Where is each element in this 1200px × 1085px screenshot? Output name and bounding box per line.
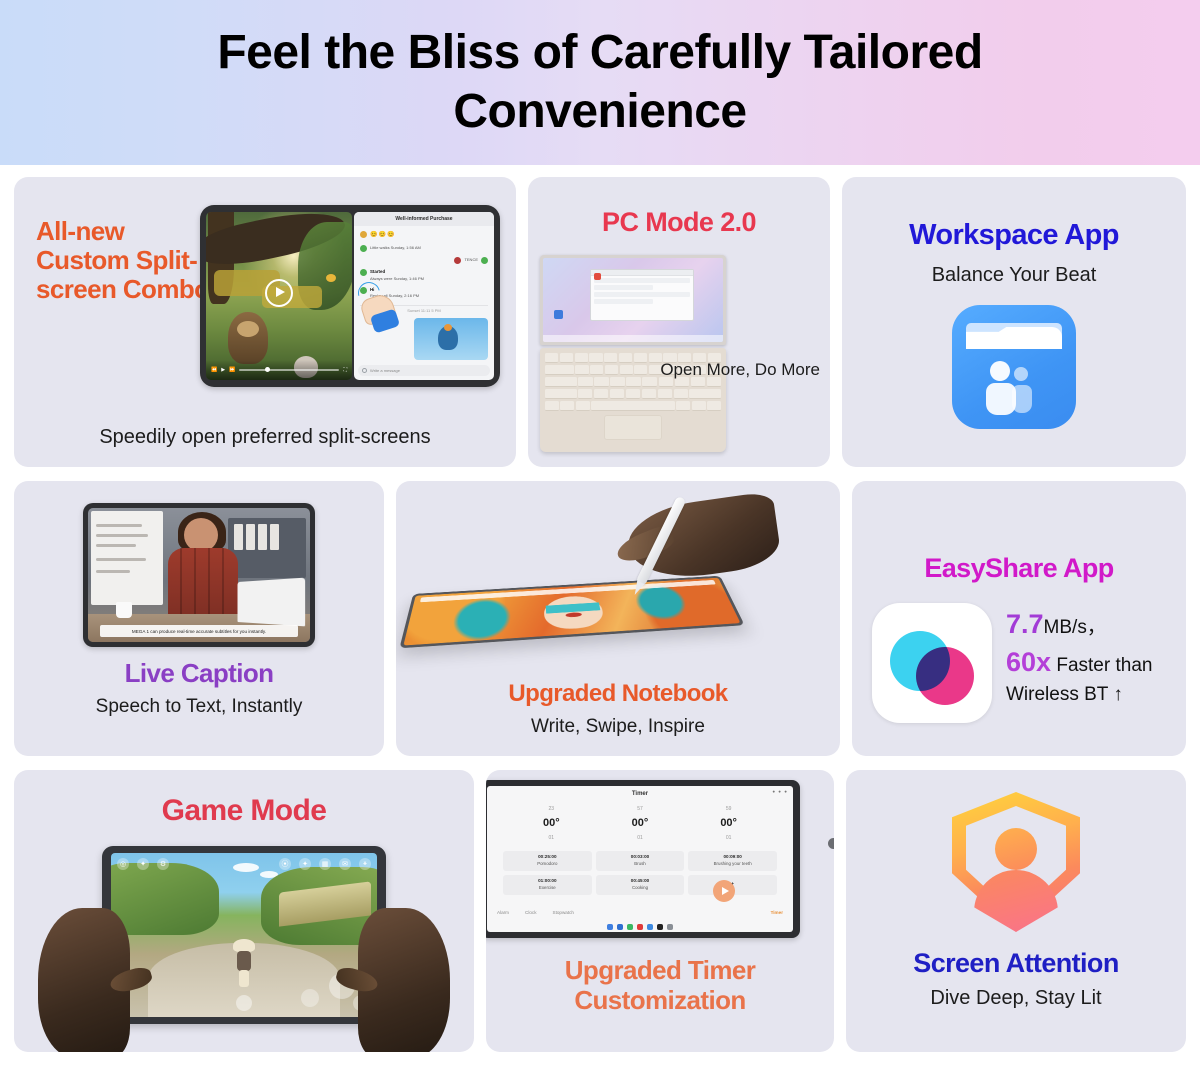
person-head-shape xyxy=(990,361,1010,381)
card-screen-attention[interactable]: Screen Attention Dive Deep, Stay Lit xyxy=(846,770,1186,1052)
chat-message-text: 😊😊😊 xyxy=(370,231,395,240)
person-head-shape xyxy=(184,518,218,552)
media-app-icon[interactable] xyxy=(637,924,643,930)
chat-sender: Started xyxy=(370,269,424,276)
tab-alarm[interactable]: Alarm xyxy=(497,910,509,915)
card-split-screen[interactable]: All-new Custom Split-screen Combo ⏪ ▶ xyxy=(14,177,516,467)
whiteboard-line xyxy=(96,558,146,561)
speed-value: 7.7 xyxy=(1006,609,1044,639)
video-call-scene: MEGA 1 can produce real-time accurate su… xyxy=(88,508,310,642)
key xyxy=(594,389,608,399)
minutes-picker[interactable]: 57 00° 01 xyxy=(632,805,649,843)
binder xyxy=(246,524,255,550)
timer-preset[interactable]: 00:09:00 Brushing your teeth xyxy=(688,851,777,871)
character-legs xyxy=(239,970,249,987)
card-pc-mode[interactable]: PC Mode 2.0 xyxy=(528,177,830,467)
easyshare-title: EasyShare App xyxy=(852,553,1186,583)
chat-title: Well-informed Purchase xyxy=(354,212,494,226)
pc-mode-title: PC Mode 2.0 xyxy=(528,207,830,237)
window-row xyxy=(594,285,653,290)
chat-message: Little walks Sunday, 1:56 AM xyxy=(360,245,488,252)
character-body xyxy=(237,951,251,971)
laptop-wallpaper xyxy=(543,258,723,342)
emoji-run: 😊😊😊 xyxy=(370,232,395,238)
chat-bubble-text: TENCE xyxy=(464,257,478,263)
key xyxy=(604,353,617,363)
preset-label: Brushing your teeth xyxy=(714,861,752,867)
key xyxy=(620,365,633,375)
live-caption-caption: Speech to Text, Instantly xyxy=(14,695,384,718)
preset-label: Brush xyxy=(634,861,645,867)
chat-message-outgoing: TENCE xyxy=(360,257,488,264)
avatar xyxy=(481,257,488,264)
key xyxy=(642,377,656,387)
notes-app-icon[interactable] xyxy=(647,924,653,930)
notebook-illustration xyxy=(396,487,840,653)
play-icon[interactable]: ▶ xyxy=(221,367,225,373)
chat-message: Started Always were Sunday, 1:46 PM xyxy=(360,269,488,282)
pc-mode-caption: Open More, Do More xyxy=(660,359,820,381)
fullscreen-icon[interactable]: ⛶ xyxy=(343,367,347,373)
timer-pickers[interactable]: 23 00° 01 57 00° 01 59 00° 01 xyxy=(487,797,793,847)
card-upgraded-timer[interactable]: ● ● ● Timer 23 00° 01 57 00° 01 xyxy=(486,770,834,1052)
spacebar-key xyxy=(591,401,674,411)
hand-holding-stylus xyxy=(598,489,778,609)
key xyxy=(610,377,624,387)
key xyxy=(692,401,706,411)
easyshare-content: 7.7MB/s， 60x Faster than Wireless BT ↑ xyxy=(872,603,1178,723)
key xyxy=(658,389,672,399)
picker-current: 00° xyxy=(543,814,560,834)
chat-message-text: Little walks Sunday, 1:56 AM xyxy=(370,245,421,251)
shirt-stripe xyxy=(180,548,182,618)
key xyxy=(634,365,647,375)
split-screen-caption: Speedily open preferred split-screens xyxy=(14,425,516,449)
multiplier-value: 60x xyxy=(1006,647,1051,677)
preset-label: Pomodoro xyxy=(537,861,557,867)
preset-label: Cooking xyxy=(632,885,648,891)
whiteboard-line xyxy=(96,544,136,547)
laptop-screen xyxy=(540,255,726,345)
chat-input-placeholder: Write a message xyxy=(370,368,400,373)
chat-message: 😊😊😊 xyxy=(360,231,488,240)
person-body-shape-2 xyxy=(1012,385,1032,413)
picker-above: 57 xyxy=(632,805,649,814)
mail-app-icon[interactable] xyxy=(617,924,623,930)
binder xyxy=(234,524,243,550)
map-icon[interactable]: ◎ xyxy=(117,858,129,870)
white-laptop-shape xyxy=(238,578,306,627)
shirt-stripe xyxy=(222,548,224,618)
settings-app-icon[interactable] xyxy=(657,924,663,930)
preset-time: 01:00:00 xyxy=(538,878,556,885)
card-workspace-app[interactable]: Workspace App Balance Your Beat xyxy=(842,177,1186,467)
video-controls[interactable]: ⏪ ▶ ⏩ ⛶ xyxy=(206,360,352,380)
key xyxy=(578,389,592,399)
person-body-shape xyxy=(168,548,238,618)
preset-time: 00:45:00 xyxy=(631,878,649,885)
live-caption-subtitle-bar: MEGA 1 can produce real-time accurate su… xyxy=(100,625,298,637)
binder xyxy=(270,524,279,550)
tab-stopwatch[interactable]: Stopwatch xyxy=(553,910,574,915)
notebook-title: Upgraded Notebook xyxy=(396,681,840,708)
app-dock[interactable] xyxy=(487,924,793,930)
key xyxy=(634,353,647,363)
chat-sticker-image xyxy=(414,318,488,360)
star-icon[interactable]: ✦ xyxy=(299,858,311,870)
timer-tablet-image: ● ● ● Timer 23 00° 01 57 00° 01 xyxy=(486,780,800,938)
settings-icon[interactable]: ⚙ xyxy=(157,858,169,870)
feature-grid: All-new Custom Split-screen Combo ⏪ ▶ xyxy=(0,165,1200,1060)
magenta-circle-shape xyxy=(916,647,974,705)
bookshelf-shape xyxy=(228,518,306,578)
chat-icon[interactable]: ✉ xyxy=(339,858,351,870)
key xyxy=(610,389,624,399)
timer-preset-grid[interactable]: 00:25:00 Pomodoro 00:03:00 Brush 00:09:0… xyxy=(487,847,793,899)
feature-row-2: MEGA 1 can produce real-time accurate su… xyxy=(14,481,1186,756)
card-live-caption[interactable]: MEGA 1 can produce real-time accurate su… xyxy=(14,481,384,756)
virtual-joystick[interactable] xyxy=(236,995,252,1011)
key xyxy=(560,401,574,411)
card-easyshare-app[interactable]: EasyShare App 7.7MB/s， 60x Faster than W… xyxy=(852,481,1186,756)
tab-timer[interactable]: Timer xyxy=(771,910,783,915)
bee-shape xyxy=(326,274,336,282)
timer-preset[interactable]: 01:00:00 Exercise xyxy=(503,875,592,895)
preset-time: 00:25:00 xyxy=(538,854,556,861)
easyshare-speed-line: 7.7MB/s， xyxy=(1006,605,1152,643)
key xyxy=(676,401,690,411)
preset-label: Exercise xyxy=(539,885,556,891)
terrain-left-shape xyxy=(111,863,219,935)
avatar xyxy=(360,245,367,252)
plus-icon[interactable] xyxy=(362,368,367,373)
shirt-stripe xyxy=(208,548,210,618)
timer-title: Upgraded Timer Customization xyxy=(486,956,834,1016)
key xyxy=(576,401,590,411)
desktop-shortcut-icon xyxy=(554,310,563,319)
key xyxy=(619,353,632,363)
live-caption-tablet-image: MEGA 1 can produce real-time accurate su… xyxy=(83,503,315,647)
chat-pane: Well-informed Purchase 😊😊😊 Little walks … xyxy=(354,212,494,380)
seconds-picker[interactable]: 59 00° 01 xyxy=(720,805,737,843)
forward-icon[interactable]: ⏩ xyxy=(229,367,235,373)
picker-above: 23 xyxy=(543,805,560,814)
keyboard-row xyxy=(545,401,721,411)
game-mode-tablet-image: ◎ ✦ ⚙ ⦿ ✦ ▦ ✉ ⚹ xyxy=(102,846,386,1024)
key xyxy=(590,365,603,375)
window-titlebar xyxy=(591,270,693,276)
shield-person-head-shape xyxy=(995,828,1037,870)
game-mode-title: Game Mode xyxy=(14,794,474,828)
play-button-icon[interactable] xyxy=(265,279,293,307)
feature-row-3: Game Mode xyxy=(14,770,1186,1052)
party-icon[interactable]: ⚹ xyxy=(359,858,371,870)
timer-app-header: Timer xyxy=(487,786,793,797)
cloud-shape xyxy=(233,863,259,872)
game-scene: ◎ ✦ ⚙ ⦿ ✦ ▦ ✉ ⚹ xyxy=(111,853,377,1017)
window-row xyxy=(594,278,690,283)
workspace-title: Workspace App xyxy=(842,219,1186,251)
keyboard-row xyxy=(545,389,721,399)
avatar xyxy=(360,269,367,276)
hero-banner: Feel the Bliss of Carefully Tailored Con… xyxy=(0,0,1200,165)
screen-attention-title: Screen Attention xyxy=(846,948,1186,978)
taskbar xyxy=(543,335,723,342)
game-hud-left[interactable]: ◎ ✦ ⚙ xyxy=(117,858,169,870)
key xyxy=(594,377,608,387)
split-screen-title: All-new Custom Split-screen Combo xyxy=(36,217,216,304)
key xyxy=(626,389,640,399)
key xyxy=(545,401,559,411)
key xyxy=(545,389,577,399)
video-pane: ⏪ ▶ ⏩ ⛶ xyxy=(206,212,352,380)
player-character xyxy=(233,939,255,987)
key xyxy=(626,377,640,387)
timer-preset[interactable]: 00:45:00 Cooking xyxy=(596,875,685,895)
tab-clock[interactable]: Clock xyxy=(525,910,537,915)
key xyxy=(605,365,618,375)
easyshare-multiplier-line: 60x Faster than xyxy=(1006,643,1152,681)
whiteboard-line xyxy=(96,534,148,537)
window-row xyxy=(594,299,653,304)
picker-below: 01 xyxy=(543,834,560,843)
chat-time: Always were Sunday, 1:46 PM xyxy=(370,276,424,281)
binder xyxy=(258,524,267,550)
key xyxy=(689,389,721,399)
card-game-mode[interactable]: Game Mode xyxy=(14,770,474,1052)
game-mode-illustration: ◎ ✦ ⚙ ⦿ ✦ ▦ ✉ ⚹ xyxy=(14,842,474,1052)
picker-above: 59 xyxy=(720,805,737,814)
easyshare-stats: 7.7MB/s， 60x Faster than Wireless BT ↑ xyxy=(1006,603,1152,709)
preset-time: 00:09:00 xyxy=(723,854,741,861)
card-upgraded-notebook[interactable]: Upgraded Notebook Write, Swipe, Inspire xyxy=(396,481,840,756)
messages-app-icon[interactable] xyxy=(627,924,633,930)
easyshare-comparison-line: Wireless BT ↑ xyxy=(1006,682,1152,709)
multiplier-text: Faster than xyxy=(1056,655,1152,676)
timer-app-ui: ● ● ● Timer 23 00° 01 57 00° 01 xyxy=(487,786,793,932)
workspace-caption: Balance Your Beat xyxy=(842,263,1186,287)
files-app-icon[interactable] xyxy=(667,924,673,930)
feature-row-1: All-new Custom Split-screen Combo ⏪ ▶ xyxy=(14,177,1186,467)
easyshare-circles-icon xyxy=(872,603,992,723)
phone-app-icon[interactable] xyxy=(607,924,613,930)
skill-button-1[interactable] xyxy=(301,989,319,1007)
picker-current: 00° xyxy=(632,814,649,834)
avatar xyxy=(360,231,367,238)
key xyxy=(560,353,573,363)
hours-picker[interactable]: 23 00° 01 xyxy=(543,805,560,843)
speed-unit: MB/s， xyxy=(1044,617,1106,638)
mug-shape xyxy=(116,602,132,618)
video-progress-slider[interactable] xyxy=(239,369,339,371)
pc-mode-laptop-image xyxy=(540,255,726,452)
timer-start-button[interactable] xyxy=(713,880,735,902)
key xyxy=(545,365,574,375)
key xyxy=(545,353,558,363)
key xyxy=(674,389,688,399)
window-row xyxy=(594,292,690,297)
chat-input-field[interactable]: Write a message xyxy=(358,365,490,376)
status-bar: ● ● ● xyxy=(772,789,788,794)
notebook-caption: Write, Swipe, Inspire xyxy=(396,715,840,738)
whiteboard-line xyxy=(96,570,130,573)
key xyxy=(642,389,656,399)
timer-preset[interactable]: 00:03:00 Brush xyxy=(596,851,685,871)
pointing-hand-illustration xyxy=(360,286,406,332)
split-screen-tablet-image: ⏪ ▶ ⏩ ⛶ Well-informed Purchase 😊😊😊 xyxy=(200,205,500,387)
key xyxy=(589,353,602,363)
person-head-shape-2 xyxy=(1014,367,1028,381)
inventory-icon[interactable]: ▦ xyxy=(319,858,331,870)
preset-time: 00:03:00 xyxy=(631,854,649,861)
key xyxy=(575,365,588,375)
key xyxy=(578,377,592,387)
whiteboard-line xyxy=(96,524,142,527)
live-caption-title: Live Caption xyxy=(14,659,384,688)
key xyxy=(545,377,577,387)
game-hud-right[interactable]: ⦿ ✦ ▦ ✉ ⚹ xyxy=(279,858,371,870)
workspace-folder-people-icon xyxy=(952,305,1076,429)
quest-icon[interactable]: ⦿ xyxy=(279,858,291,870)
key xyxy=(575,353,588,363)
avatar xyxy=(454,257,461,264)
screen-attention-caption: Dive Deep, Stay Lit xyxy=(846,986,1186,1010)
picker-below: 01 xyxy=(720,834,737,843)
character-figure xyxy=(228,312,268,364)
app-window xyxy=(590,269,694,321)
picker-below: 01 xyxy=(632,834,649,843)
chat-message-text: Started Always were Sunday, 1:46 PM xyxy=(370,269,424,282)
page-title: Feel the Bliss of Carefully Tailored Con… xyxy=(120,24,1080,141)
timer-preset[interactable]: 00:25:00 Pomodoro xyxy=(503,851,592,871)
picker-current: 00° xyxy=(720,814,737,834)
compass-icon[interactable]: ✦ xyxy=(137,858,149,870)
shirt-stripe xyxy=(194,548,196,618)
rewind-icon[interactable]: ⏪ xyxy=(211,367,217,373)
timer-tab-bar[interactable]: Alarm Clock Stopwatch Timer xyxy=(487,910,793,915)
trackpad xyxy=(604,415,662,440)
floating-window-handle[interactable] xyxy=(828,838,834,849)
app-icon xyxy=(594,273,601,280)
key xyxy=(707,401,721,411)
